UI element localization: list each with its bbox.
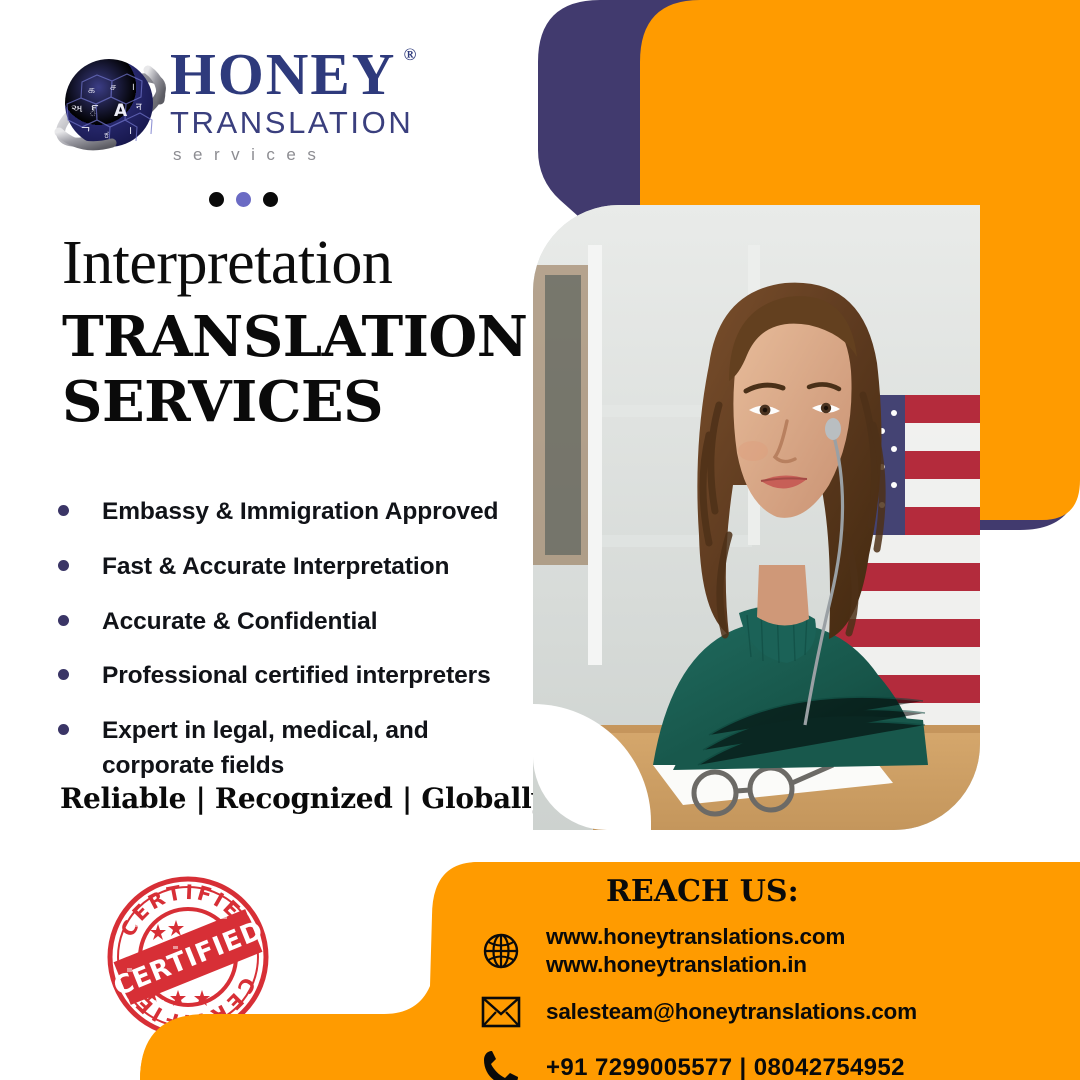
logo-wordmark: HONEY® TRANSLATION services bbox=[170, 44, 470, 165]
feature-list: Embassy & Immigration Approved Fast & Ac… bbox=[58, 495, 538, 784]
svg-text:ச: ச bbox=[110, 80, 116, 93]
reach-us-title: REACH US: bbox=[606, 874, 1078, 909]
contact-details: REACH US: www.honeytranslations.com ww bbox=[478, 874, 1078, 1080]
interpreter-photo bbox=[533, 205, 980, 830]
logo-translation-label: TRANSLATION bbox=[170, 106, 470, 140]
contact-row-website[interactable]: www.honeytranslations.com www.honeytrans… bbox=[478, 923, 1078, 979]
logo-services-label: services bbox=[170, 145, 470, 165]
bullet-dot-icon bbox=[58, 724, 69, 735]
globe-icon bbox=[478, 928, 524, 974]
logo-honey-text: HONEY® bbox=[170, 44, 396, 104]
headline-block: Interpretation TRANSLATION SERVICES bbox=[62, 232, 542, 435]
brand-logo: க ச । અ ్ A न ᄀ ಕ । HONEY® TRANSLATION s… bbox=[52, 44, 472, 219]
logo-dots-group bbox=[209, 192, 278, 207]
list-item: Professional certified interpreters bbox=[58, 659, 538, 694]
globe-languages-icon: க ச । અ ్ A न ᄀ ಕ । bbox=[52, 48, 170, 166]
headline-script-line: Interpretation bbox=[62, 232, 542, 295]
contact-footer: REACH US: www.honeytranslations.com ww bbox=[0, 862, 1080, 1080]
website-values[interactable]: www.honeytranslations.com www.honeytrans… bbox=[546, 923, 845, 979]
bullet-dot-icon bbox=[58, 505, 69, 516]
contact-row-email[interactable]: salesteam@honeytranslations.com bbox=[478, 989, 1078, 1035]
list-item-label: Accurate & Confidential bbox=[102, 605, 377, 640]
list-item-label: Fast & Accurate Interpretation bbox=[102, 550, 449, 585]
registered-mark-icon: ® bbox=[404, 46, 419, 63]
bullet-dot-icon bbox=[58, 615, 69, 626]
list-item: Embassy & Immigration Approved bbox=[58, 495, 538, 530]
svg-text:न: न bbox=[136, 102, 142, 113]
bullet-dot-icon bbox=[58, 560, 69, 571]
svg-text:ᄀ: ᄀ bbox=[80, 125, 91, 139]
logo-dot-1 bbox=[209, 192, 224, 207]
svg-text:A: A bbox=[114, 101, 128, 121]
logo-dot-3 bbox=[263, 192, 278, 207]
headline-main-line1: TRANSLATION bbox=[62, 305, 542, 370]
headline-main-line2: SERVICES bbox=[62, 370, 542, 435]
website-line-1[interactable]: www.honeytranslations.com bbox=[546, 923, 845, 951]
list-item-label: Professional certified interpreters bbox=[102, 659, 491, 694]
svg-text:।: । bbox=[128, 124, 132, 137]
list-item-label: Expert in legal, medical, and corporate … bbox=[102, 714, 462, 784]
bullet-dot-icon bbox=[58, 669, 69, 680]
svg-text:અ: અ bbox=[71, 102, 83, 115]
logo-honey-label: HONEY bbox=[170, 41, 396, 107]
contact-row-phone[interactable]: +91 7299005577 | 08042754952 bbox=[478, 1045, 1078, 1080]
list-item-label: Embassy & Immigration Approved bbox=[102, 495, 498, 530]
website-line-2[interactable]: www.honeytranslation.in bbox=[546, 951, 845, 979]
svg-text:க: க bbox=[88, 83, 95, 96]
phone-icon bbox=[478, 1045, 524, 1080]
svg-text:ಕ: ಕ bbox=[104, 128, 109, 141]
phone-value[interactable]: +91 7299005577 | 08042754952 bbox=[546, 1053, 905, 1080]
logo-dot-2 bbox=[236, 192, 251, 207]
envelope-icon bbox=[478, 989, 524, 1035]
email-value[interactable]: salesteam@honeytranslations.com bbox=[546, 998, 917, 1026]
list-item: Accurate & Confidential bbox=[58, 605, 538, 640]
poster-canvas: க ச । અ ్ A न ᄀ ಕ । HONEY® TRANSLATION s… bbox=[0, 0, 1080, 1080]
list-item: Fast & Accurate Interpretation bbox=[58, 550, 538, 585]
list-item: Expert in legal, medical, and corporate … bbox=[58, 714, 538, 784]
svg-text:।: । bbox=[131, 82, 135, 93]
